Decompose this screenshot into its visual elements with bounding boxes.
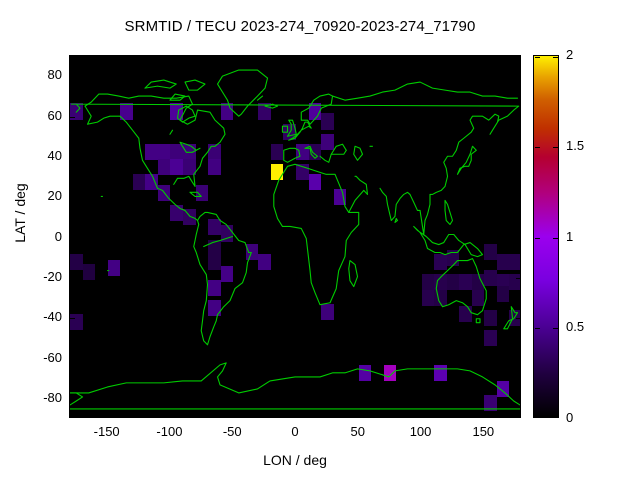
y-tick-label: -60 [22,350,62,365]
y-tick-mark [70,157,75,158]
colorbar-tick-label: 0.5 [566,319,606,334]
colorbar-tick-mark [535,328,540,329]
y-tick-label: 0 [22,229,62,244]
coastline-path [333,82,518,100]
x-tick-mark [484,413,485,418]
x-tick-mark [422,56,423,61]
y-tick-mark [516,157,521,158]
coastline-path [204,237,233,247]
y-tick-mark [516,278,521,279]
x-tick-label: -100 [139,424,199,439]
x-tick-label: -50 [202,424,262,439]
y-tick-mark [516,359,521,360]
colorbar-tick-mark [553,417,558,418]
colorbar-tick-label: 0 [566,410,606,425]
coastline-path [305,146,318,158]
x-tick-label: 150 [453,424,513,439]
y-tick-mark [70,117,75,118]
x-tick-mark [484,56,485,61]
coastline-path [476,319,480,323]
colorbar-tick-mark [535,147,540,148]
coastline-path [301,94,332,124]
y-tick-mark [516,76,521,77]
coastline-path [284,148,300,162]
y-tick-mark [516,197,521,198]
x-tick-mark [296,56,297,61]
figure-root: SRMTID / TECU 2023-274_70920-2023-274_71… [0,0,640,480]
coastline-path [194,212,252,344]
colorbar-gradient [534,56,558,417]
coastline-path [349,176,368,212]
coastline-path [289,122,312,140]
x-tick-mark [170,413,171,418]
colorbar-tick-mark [553,57,558,58]
y-axis-title: LAT / deg [12,133,28,293]
y-tick-mark [70,238,75,239]
coastline-path [257,96,262,100]
x-tick-mark [108,56,109,61]
coastline-path [288,120,297,136]
colorbar-tick-mark [535,417,540,418]
coastline-path [354,146,363,160]
colorbar-tick-mark [535,238,540,239]
x-tick-mark [359,413,360,418]
y-tick-label: -40 [22,309,62,324]
coastline-path [380,188,410,220]
coastline-path [436,259,486,315]
x-tick-mark [170,56,171,61]
colorbar-tick-mark [553,328,558,329]
coastline-path [70,363,520,405]
coastline-path [85,94,225,186]
x-tick-label: -150 [77,424,137,439]
coastline-path [180,142,200,152]
coastline-path [145,80,176,88]
y-tick-label: 60 [22,108,62,123]
colorbar-tick-mark [553,147,558,148]
map-plot-area [69,55,521,418]
coastline-path [349,261,358,287]
coastline-layer [70,56,520,417]
chart-title: SRMTID / TECU 2023-274_70920-2023-274_71… [0,18,600,35]
y-tick-mark [516,318,521,319]
x-tick-label: 100 [391,424,451,439]
y-tick-label: 20 [22,188,62,203]
x-tick-mark [233,413,234,418]
coastline-path [185,80,205,90]
y-tick-mark [70,359,75,360]
y-tick-mark [516,117,521,118]
y-tick-mark [70,278,75,279]
coastline-path [218,70,268,116]
y-tick-mark [516,399,521,400]
colorbar-tick-label: 1.5 [566,138,606,153]
y-tick-label: -80 [22,390,62,405]
y-tick-label: 40 [22,148,62,163]
x-tick-mark [296,413,297,418]
y-tick-label: 80 [22,67,62,82]
x-tick-label: 0 [265,424,325,439]
coastline-path [85,106,198,220]
y-tick-mark [70,76,75,77]
coastline-path [274,164,359,304]
y-tick-mark [70,318,75,319]
x-axis-title: LON / deg [69,452,521,468]
coastline-path [331,144,346,154]
x-tick-mark [359,56,360,61]
x-tick-label: 50 [328,424,388,439]
y-tick-mark [70,197,75,198]
colorbar-tick-mark [553,238,558,239]
colorbar [533,55,559,418]
y-tick-label: -20 [22,269,62,284]
coastline-path [71,104,518,234]
y-tick-mark [70,399,75,400]
colorbar-tick-mark [535,57,540,58]
x-tick-mark [422,413,423,418]
coastline-path [395,218,398,222]
y-tick-mark [516,238,521,239]
coastline-path [457,146,476,174]
colorbar-tick-label: 1 [566,229,606,244]
x-tick-mark [233,56,234,61]
coastline-path [282,126,287,132]
colorbar-tick-label: 2 [566,47,606,62]
x-tick-mark [108,413,109,418]
coastline-path [190,192,201,196]
coastline-path [445,200,452,224]
coastline-path [170,130,173,134]
